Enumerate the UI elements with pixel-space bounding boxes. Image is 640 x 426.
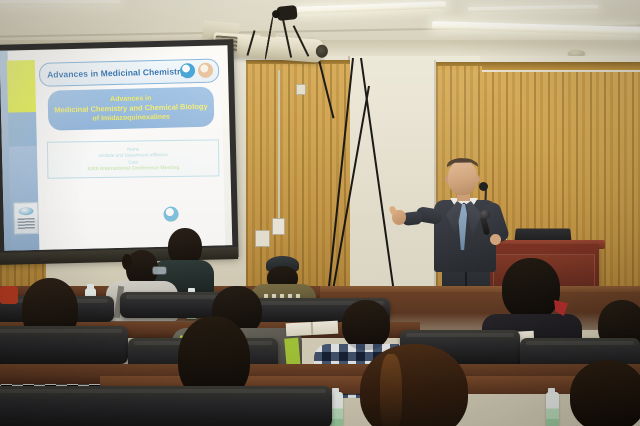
projected-slide: Advances in Medicinal Chemistry Advances… (0, 45, 232, 251)
slide-header-bar: Advances in Medicinal Chemistry (39, 58, 220, 86)
seat-back-foreground[interactable] (0, 386, 332, 426)
slide-accent-band-yellow (7, 60, 36, 115)
logo-text-block (18, 218, 35, 229)
wall-outlet[interactable] (296, 84, 306, 95)
attendee-long-hair-foreground (324, 344, 504, 426)
slide-title-box: Advances in Medicinal Chemistry and Chem… (48, 87, 215, 131)
attendee-hair (502, 258, 560, 320)
eyeglasses-icon (152, 266, 167, 275)
open-notebook[interactable] (286, 321, 339, 337)
logo-oval-icon (18, 207, 33, 215)
attendee-ponytail (122, 254, 132, 270)
attendee-hair (342, 300, 390, 350)
ceiling-camera-icon (276, 5, 297, 21)
bottle-cap (548, 388, 555, 393)
attendee-hair (360, 344, 468, 426)
seat-highlight (406, 333, 514, 337)
seat-highlight (0, 389, 326, 393)
red-object (0, 286, 18, 304)
seat-highlight (0, 329, 122, 333)
presenter-mic-hand (490, 234, 501, 245)
slide-accent-band-blue (8, 112, 37, 149)
slide-header-logo-orange-icon (198, 63, 213, 78)
slide-header-label: Advances in Medicinal Chemistry (47, 66, 185, 79)
curtain-cord-tag[interactable] (272, 218, 285, 235)
seat-back[interactable] (0, 326, 128, 364)
slide-footer-logo-icon (13, 202, 39, 235)
attendee-hair (570, 360, 640, 426)
presenter-head (448, 160, 477, 195)
conference-photo: Advances in Medicinal Chemistry Advances… (0, 0, 640, 426)
slide-author-box: Name Institute and Department affiliatio… (47, 139, 219, 178)
slide-accent-band-lightblue (9, 146, 40, 251)
hair-highlight (380, 354, 402, 426)
ceiling-light-fixture (0, 0, 120, 5)
seat-highlight (526, 341, 634, 345)
slide-header-logo-blue-icon (180, 63, 195, 78)
slide-title-line3: of Imidazoquinoxalines (92, 112, 170, 123)
bottle-cap (332, 388, 339, 393)
wall-outlet[interactable] (255, 230, 270, 247)
water-bottle[interactable] (546, 392, 559, 426)
microphone-head-icon (480, 210, 490, 219)
attendee-right-foreground (560, 360, 640, 426)
curtain-pull-cord[interactable] (278, 70, 280, 222)
slide-author-line4: XXth International Conference Meeting (87, 165, 179, 173)
